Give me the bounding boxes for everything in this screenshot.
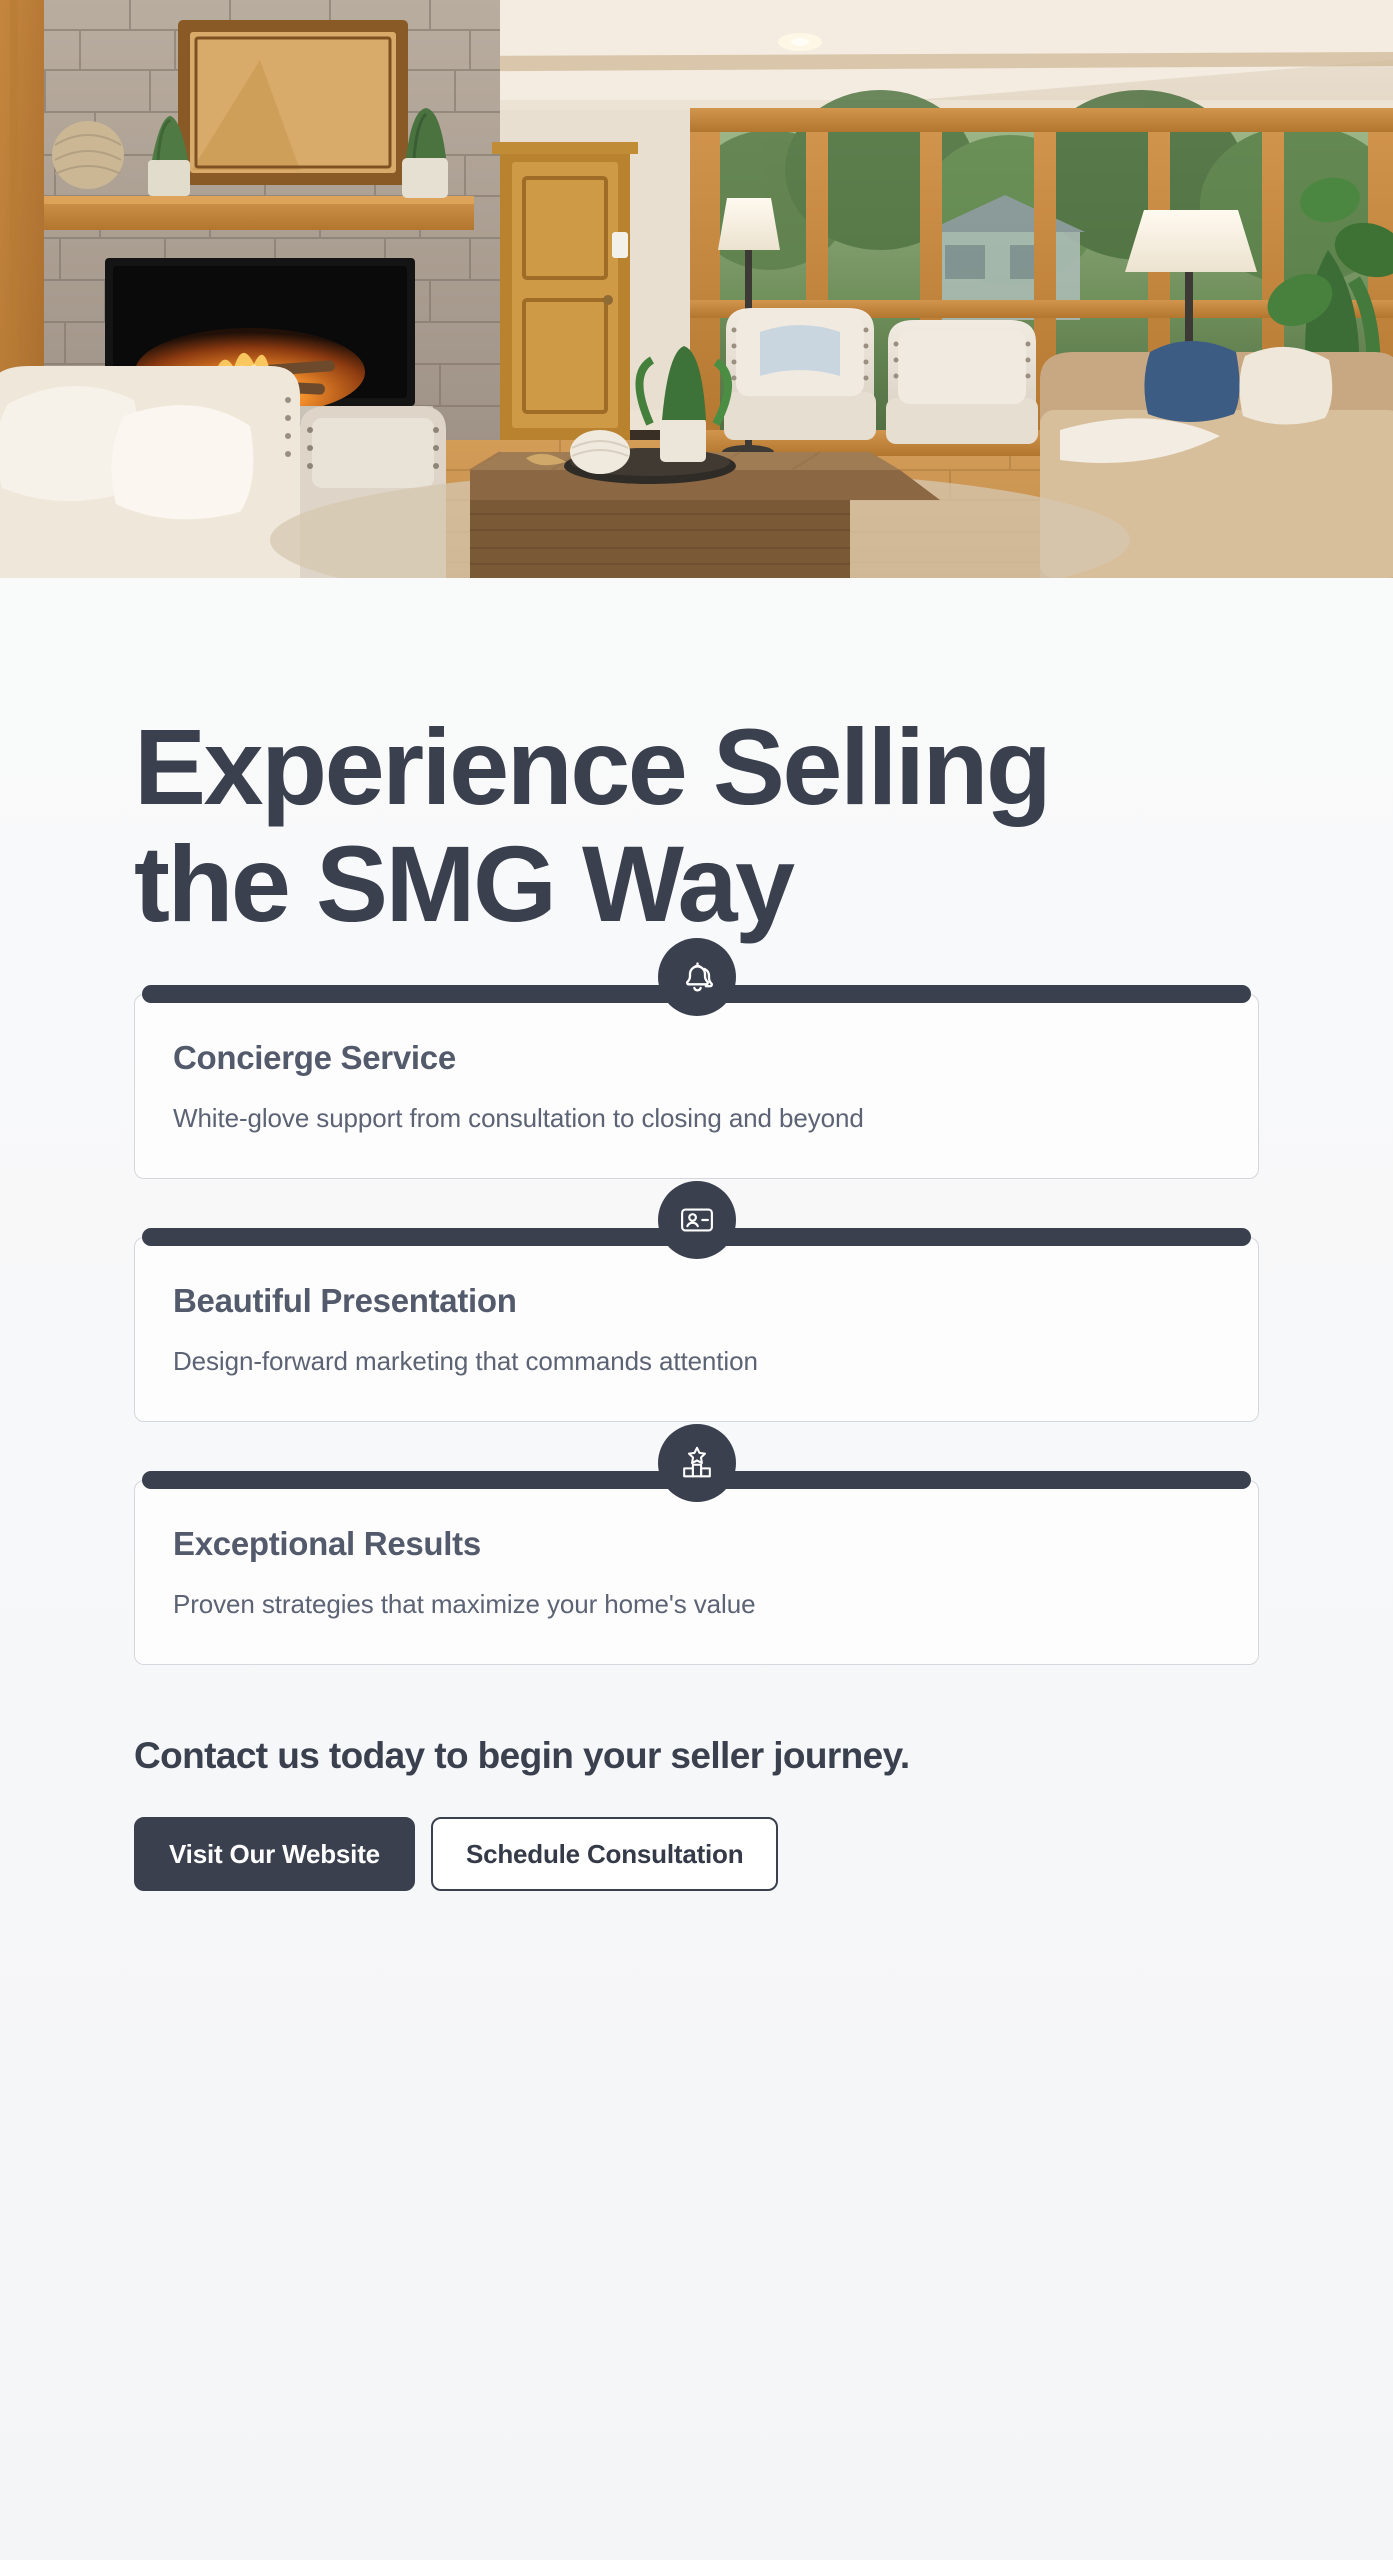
visit-website-button[interactable]: Visit Our Website <box>134 1817 415 1891</box>
schedule-consultation-button[interactable]: Schedule Consultation <box>431 1817 778 1891</box>
page-title: Experience Selling the SMG Way <box>134 708 1393 942</box>
feature-card-title: Beautiful Presentation <box>173 1282 1220 1320</box>
feature-card-title: Concierge Service <box>173 1039 1220 1077</box>
feature-card-description: White-glove support from consultation to… <box>173 1103 1220 1134</box>
feature-card-description: Design-forward marketing that commands a… <box>173 1346 1220 1377</box>
feature-card-list: Concierge Service White-glove support fr… <box>134 994 1259 1665</box>
feature-card-title: Exceptional Results <box>173 1525 1220 1563</box>
feature-card: Concierge Service White-glove support fr… <box>134 994 1259 1179</box>
cta-headline: Contact us today to begin your seller jo… <box>134 1735 1393 1777</box>
feature-card-wrapper: Concierge Service White-glove support fr… <box>134 994 1259 1179</box>
feature-card-wrapper: Exceptional Results Proven strategies th… <box>134 1480 1259 1665</box>
feature-card-wrapper: Beautiful Presentation Design-forward ma… <box>134 1237 1259 1422</box>
feature-card: Beautiful Presentation Design-forward ma… <box>134 1237 1259 1422</box>
landing-page: Experience Selling the SMG Way Concierge… <box>0 0 1393 2560</box>
hero-image <box>0 0 1393 578</box>
contact-card-icon <box>658 1181 736 1259</box>
cta-button-row: Visit Our Website Schedule Consultation <box>134 1817 1393 1891</box>
concierge-bell-icon <box>658 938 736 1016</box>
feature-card-description: Proven strategies that maximize your hom… <box>173 1589 1220 1620</box>
content-area: Experience Selling the SMG Way Concierge… <box>0 708 1393 1891</box>
podium-star-icon <box>658 1424 736 1502</box>
feature-card: Exceptional Results Proven strategies th… <box>134 1480 1259 1665</box>
